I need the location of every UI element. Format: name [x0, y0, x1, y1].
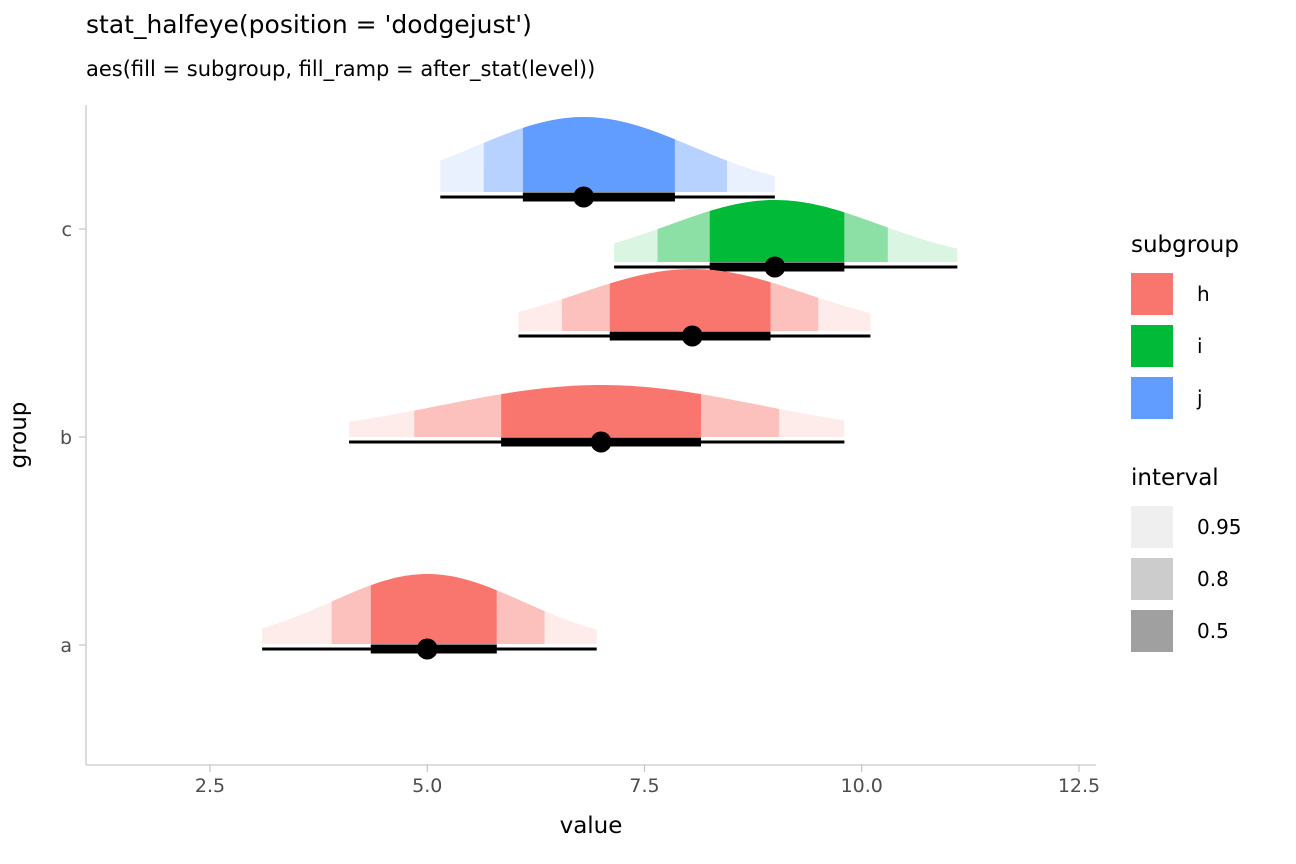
slab-band-0.95	[614, 229, 657, 262]
slab-band-0.8	[658, 211, 710, 262]
slab-band-0.95	[440, 143, 483, 192]
slab-band-0.95	[349, 411, 414, 437]
slab-band-0.8	[562, 284, 610, 331]
subgroup-legend-label-h: h	[1197, 282, 1210, 306]
slab-group-b-h	[349, 385, 844, 453]
median-point	[591, 432, 612, 453]
y-tick-label: a	[60, 635, 72, 657]
slab-band-0.8	[332, 585, 371, 644]
subgroup-legend-label-i: i	[1197, 334, 1203, 358]
x-tick-label: 7.5	[629, 775, 659, 797]
y-tick-label: b	[60, 427, 72, 449]
slab-group-c-h	[518, 269, 870, 346]
interval-legend-label-0.95: 0.95	[1197, 515, 1242, 539]
interval-legend-label-0.8: 0.8	[1197, 567, 1229, 591]
y-axis-title: group	[6, 402, 32, 469]
plot-axes: 2.55.07.510.012.5abcvaluegroup	[6, 105, 1100, 839]
slab-band-0.95	[888, 228, 958, 262]
interval-legend-swatch-0.95[interactable]	[1131, 506, 1173, 548]
slab-band-0.5	[710, 200, 845, 262]
ggplot-figure: stat_halfeye(position = 'dodgejust') aes…	[0, 0, 1296, 864]
subgroup-legend-swatch-j[interactable]	[1131, 377, 1173, 419]
x-axis-title: value	[560, 813, 623, 839]
slab-group-c-i	[614, 200, 957, 278]
median-point	[573, 187, 594, 208]
interval-legend-swatch-0.8[interactable]	[1131, 558, 1173, 600]
subgroup-legend-swatch-i[interactable]	[1131, 325, 1173, 367]
slab-band-0.8	[701, 394, 779, 437]
slab-band-0.95	[779, 409, 844, 437]
subgroup-legend-swatch-h[interactable]	[1131, 273, 1173, 315]
plot-canvas: 2.55.07.510.012.5abcvaluegroup subgrouph…	[0, 0, 1296, 864]
interval-legend-swatch-0.5[interactable]	[1131, 610, 1173, 652]
slab-band-0.5	[610, 269, 771, 331]
slab-group-c-j	[440, 117, 775, 208]
slab-band-0.8	[844, 212, 887, 262]
x-tick-label: 12.5	[1058, 775, 1100, 797]
slab-band-0.95	[518, 299, 561, 331]
slab-band-0.8	[414, 394, 501, 437]
plot-panel	[262, 117, 957, 660]
median-point	[417, 639, 438, 660]
x-tick-label: 5.0	[412, 775, 442, 797]
plot-legends: subgrouphijinterval0.950.80.5	[1131, 232, 1242, 652]
median-point	[682, 326, 703, 347]
subgroup-legend-label-j: j	[1196, 386, 1203, 410]
interval-legend-label-0.5: 0.5	[1197, 619, 1229, 643]
x-tick-label: 10.0	[841, 775, 883, 797]
slab-band-0.95	[727, 161, 775, 192]
slab-band-0.8	[484, 128, 523, 192]
subgroup-legend-title: subgroup	[1131, 232, 1239, 258]
slab-group-a-h	[262, 574, 597, 660]
interval-legend-title: interval	[1131, 465, 1219, 491]
slab-band-0.95	[545, 611, 597, 644]
slab-band-0.8	[675, 139, 727, 192]
y-tick-label: c	[62, 219, 72, 241]
slab-band-0.95	[818, 298, 870, 331]
slab-band-0.8	[497, 590, 545, 644]
slab-band-0.5	[371, 574, 497, 644]
slab-band-0.5	[523, 117, 675, 192]
slab-band-0.5	[501, 385, 701, 437]
slab-band-0.8	[771, 282, 819, 331]
slab-band-0.95	[262, 602, 332, 644]
x-tick-label: 2.5	[195, 775, 225, 797]
median-point	[764, 257, 785, 278]
